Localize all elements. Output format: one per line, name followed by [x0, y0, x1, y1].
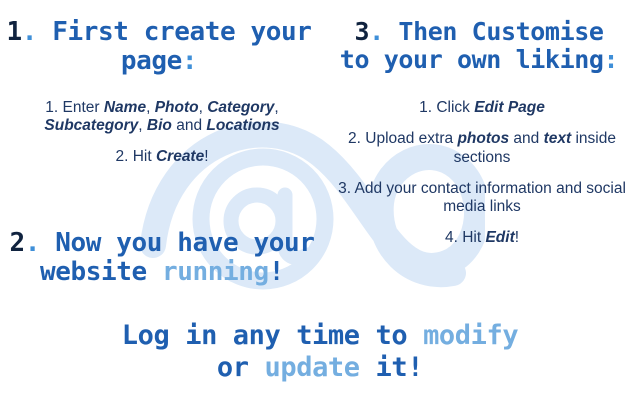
- list-item-text: ,: [146, 99, 155, 116]
- heading-step-1: 1. First create your page:: [6, 18, 312, 76]
- instructions-poster: 1. First create your page: 3. Then Custo…: [0, 0, 640, 414]
- heading-step-2-line1: Now you have your: [55, 228, 314, 258]
- heading-step-2-highlight-running: running: [162, 257, 269, 287]
- list-item-emphasis: Photo: [155, 99, 199, 116]
- heading-step-2-dot: .: [25, 228, 40, 258]
- list-item-text: ,: [274, 99, 278, 116]
- list-item-emphasis: text: [544, 130, 572, 147]
- tagline-highlight-modify: modify: [423, 320, 518, 351]
- heading-step-3-line1: Then Customise: [398, 17, 603, 46]
- list-item-emphasis: Locations: [206, 117, 279, 134]
- heading-step-2-line2-prefix: website: [40, 257, 162, 287]
- steps-list-right: 1. Click Edit Page2. Upload extra photos…: [334, 99, 630, 261]
- tagline: Log in any time to modify or update it!: [40, 320, 600, 384]
- steps-list-left: 1. Enter Name, Photo, Category, Subcateg…: [14, 99, 310, 178]
- list-item-text: Click: [432, 99, 474, 116]
- list-item-text: ,: [138, 117, 147, 134]
- list-item-text: and: [509, 130, 543, 147]
- heading-step-3-line2: to your own liking: [340, 45, 604, 74]
- list-item: 1. Click Edit Page: [334, 99, 630, 117]
- list-item-text: ,: [199, 99, 208, 116]
- list-item-text: Add your contact information and social …: [351, 180, 626, 215]
- list-item-emphasis: Category: [207, 99, 274, 116]
- heading-step-3-number: 3: [354, 17, 369, 46]
- list-item-emphasis: Bio: [147, 117, 172, 134]
- heading-step-1-colon: :: [182, 46, 197, 76]
- heading-step-1-dot: .: [22, 17, 37, 47]
- heading-step-1-line1: First create your: [52, 17, 311, 47]
- heading-step-2-line2-suffix: !: [269, 257, 284, 287]
- heading-step-2-number: 2: [9, 228, 24, 258]
- list-item: 4. Hit Edit!: [334, 229, 630, 247]
- list-item-index: 3.: [338, 180, 351, 197]
- list-item: 2. Hit Create!: [14, 148, 310, 166]
- tagline-part-3: it!: [360, 352, 423, 383]
- heading-step-1-line2: page: [121, 46, 182, 76]
- list-item: 1. Enter Name, Photo, Category, Subcateg…: [14, 99, 310, 136]
- list-item-emphasis: Edit: [485, 229, 514, 246]
- list-item-text: and: [172, 117, 206, 134]
- list-item: 2. Upload extra photos and text inside s…: [334, 130, 630, 167]
- tagline-part-2: or: [217, 352, 265, 383]
- heading-step-3-dot: .: [369, 17, 384, 46]
- list-item-index: 2.: [115, 148, 128, 165]
- heading-step-1-number: 1: [6, 17, 21, 47]
- list-item-emphasis: Subcategory: [44, 117, 138, 134]
- list-item-text: Hit: [128, 148, 156, 165]
- list-item-text: Enter: [58, 99, 104, 116]
- list-item-emphasis: Edit Page: [474, 99, 545, 116]
- tagline-part-1: Log in any time to: [122, 320, 423, 351]
- heading-step-3: 3. Then Customise to your own liking:: [326, 18, 632, 74]
- tagline-highlight-update: update: [265, 352, 360, 383]
- list-item-index: 1.: [45, 99, 58, 116]
- list-item-index: 2.: [348, 130, 361, 147]
- heading-step-2: 2. Now you have your website running!: [4, 229, 320, 287]
- list-item-text: !: [204, 148, 208, 165]
- list-item-text: Hit: [458, 229, 486, 246]
- list-item-emphasis: Name: [104, 99, 146, 116]
- list-item-index: 4.: [445, 229, 458, 246]
- list-item-text: Upload extra: [361, 130, 458, 147]
- heading-step-3-colon: :: [604, 45, 619, 74]
- poster-content: 1. First create your page: 3. Then Custo…: [0, 0, 640, 414]
- list-item-text: !: [515, 229, 519, 246]
- list-item: 3. Add your contact information and soci…: [334, 180, 630, 217]
- list-item-index: 1.: [419, 99, 432, 116]
- list-item-emphasis: photos: [457, 130, 509, 147]
- list-item-emphasis: Create: [156, 148, 204, 165]
